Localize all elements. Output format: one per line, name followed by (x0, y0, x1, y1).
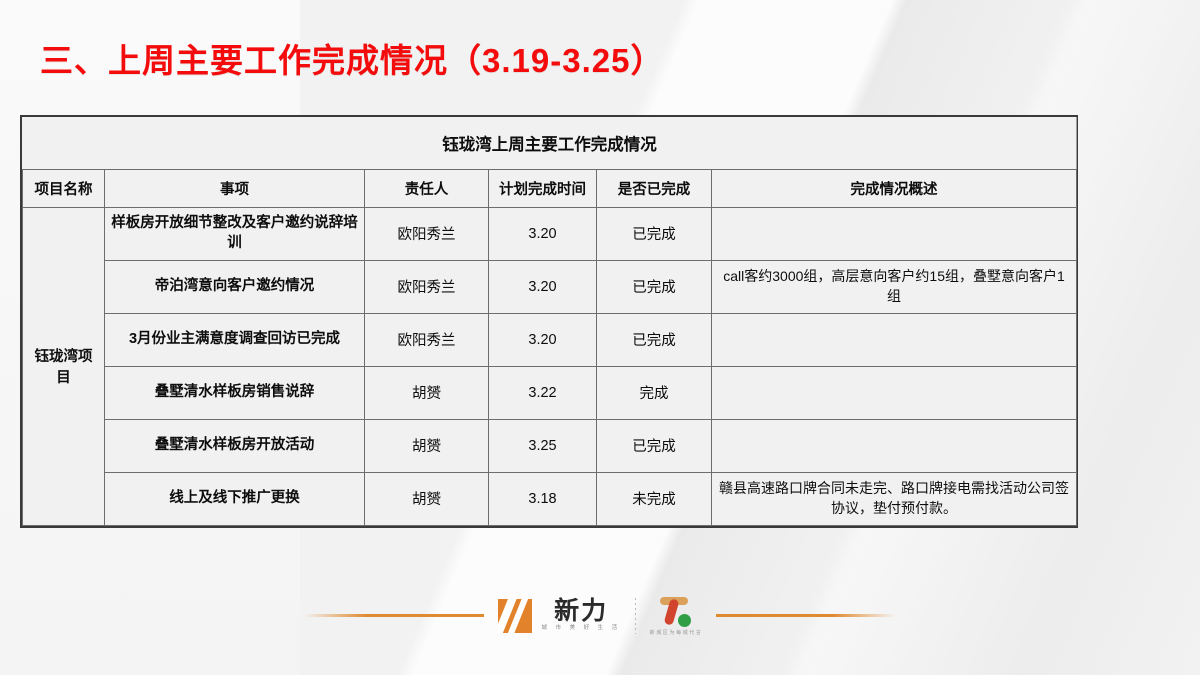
brand-name: 新力 (554, 599, 608, 624)
row-owner: 欧阳秀兰 (365, 207, 489, 260)
row-due-date: 3.20 (489, 260, 597, 313)
secondary-logo: 新城区为每城代言 (650, 595, 703, 636)
row-owner: 欧阳秀兰 (365, 313, 489, 366)
row-owner: 胡赟 (365, 366, 489, 419)
row-status: 已完成 (597, 260, 712, 313)
row-summary: call客约3000组，高层意向客户约15组，叠墅意向客户1组 (712, 260, 1077, 313)
row-status: 已完成 (597, 313, 712, 366)
table-caption-row: 钰珑湾上周主要工作完成情况 (23, 117, 1077, 169)
row-item: 样板房开放细节整改及客户邀约说辞培训 (105, 207, 365, 260)
column-header-summary: 完成情况概述 (712, 169, 1077, 207)
row-item: 叠墅清水样板房开放活动 (105, 419, 365, 472)
row-item: 帝泊湾意向客户邀约情况 (105, 260, 365, 313)
column-header-owner: 责任人 (365, 169, 489, 207)
table-row: 叠墅清水样板房开放活动 胡赟 3.25 已完成 (23, 419, 1077, 472)
work-completion-table: 钰珑湾上周主要工作完成情况 项目名称 事项 责任人 计划完成时间 是否已完成 完… (20, 115, 1078, 528)
slide-footer: 新力 城 市 美 好 生 活 新城区为每城代言 (0, 588, 1200, 643)
row-due-date: 3.18 (489, 472, 597, 525)
seven-mark-icon (658, 595, 694, 628)
row-summary: 赣县高速路口牌合同未走完、路口牌接电需找活动公司签协议，垫付预付款。 (712, 472, 1077, 525)
logo-dot-shape (678, 614, 691, 627)
footer-rule-left (304, 614, 484, 617)
secondary-tagline: 新城区为每城代言 (650, 631, 703, 636)
row-summary (712, 313, 1077, 366)
row-due-date: 3.25 (489, 419, 597, 472)
row-owner: 欧阳秀兰 (365, 260, 489, 313)
row-summary (712, 419, 1077, 472)
row-owner: 胡赟 (365, 419, 489, 472)
column-header-done: 是否已完成 (597, 169, 712, 207)
row-status: 未完成 (597, 472, 712, 525)
footer-divider (635, 598, 636, 634)
row-status: 已完成 (597, 207, 712, 260)
row-status: 已完成 (597, 419, 712, 472)
row-item: 3月份业主满意度调查回访已完成 (105, 313, 365, 366)
table-row: 线上及线下推广更换 胡赟 3.18 未完成 赣县高速路口牌合同未走完、路口牌接电… (23, 472, 1077, 525)
project-name-cell: 钰珑湾项目 (23, 207, 105, 525)
footer-rule-right (716, 614, 896, 617)
row-item: 叠墅清水样板房销售说辞 (105, 366, 365, 419)
xinli-logo-icon (498, 599, 532, 633)
table-header-row: 项目名称 事项 责任人 计划完成时间 是否已完成 完成情况概述 (23, 169, 1077, 207)
row-summary (712, 207, 1077, 260)
column-header-project: 项目名称 (23, 169, 105, 207)
column-header-due-date: 计划完成时间 (489, 169, 597, 207)
row-summary (712, 366, 1077, 419)
table-caption: 钰珑湾上周主要工作完成情况 (23, 117, 1077, 169)
column-header-item: 事项 (105, 169, 365, 207)
page-title: 三、上周主要工作完成情况（3.19-3.25） (40, 34, 664, 82)
row-due-date: 3.20 (489, 313, 597, 366)
brand-tagline: 城 市 美 好 生 活 (542, 626, 621, 632)
brand-logo: 新力 城 市 美 好 生 活 (498, 599, 621, 633)
row-item: 线上及线下推广更换 (105, 472, 365, 525)
table-row: 叠墅清水样板房销售说辞 胡赟 3.22 完成 (23, 366, 1077, 419)
table-row: 帝泊湾意向客户邀约情况 欧阳秀兰 3.20 已完成 call客约3000组，高层… (23, 260, 1077, 313)
table-row: 钰珑湾项目 样板房开放细节整改及客户邀约说辞培训 欧阳秀兰 3.20 已完成 (23, 207, 1077, 260)
row-due-date: 3.22 (489, 366, 597, 419)
row-owner: 胡赟 (365, 472, 489, 525)
table-row: 3月份业主满意度调查回访已完成 欧阳秀兰 3.20 已完成 (23, 313, 1077, 366)
row-status: 完成 (597, 366, 712, 419)
row-due-date: 3.20 (489, 207, 597, 260)
